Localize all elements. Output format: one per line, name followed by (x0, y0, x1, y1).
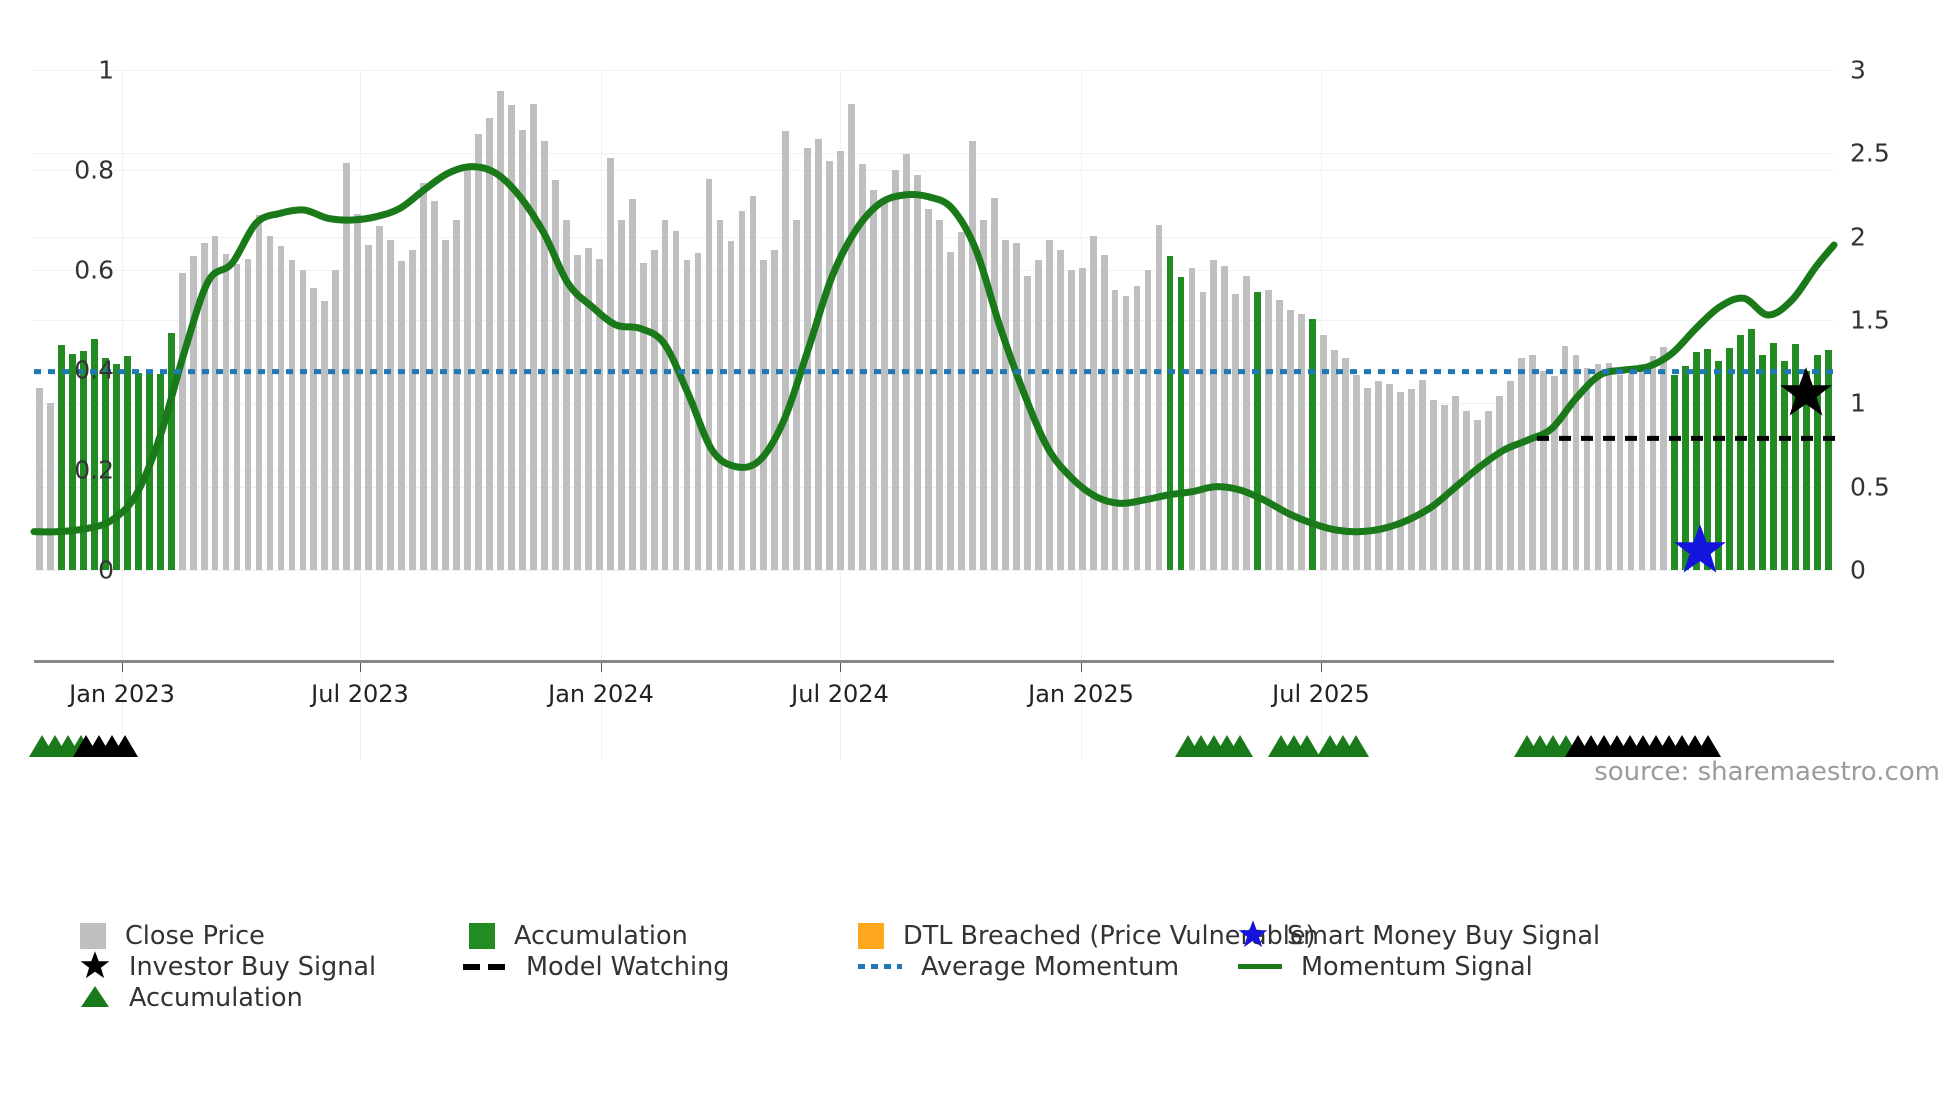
y-tick-right-3: 1.5 (1850, 306, 1890, 335)
smart-money-star-icon (1238, 919, 1268, 953)
smart-money-buy-signal-star (1673, 522, 1727, 580)
legend-item-4[interactable]: Investor Buy Signal (80, 951, 376, 982)
accumulation-triangle-green (1343, 735, 1369, 757)
accumulation-triangle-icon (80, 983, 110, 1013)
x-tick-mark-2 (601, 663, 602, 672)
legend-label-8: Accumulation (129, 983, 303, 1013)
y-tick-left-2: 0.4 (74, 356, 114, 385)
chart-root: 00.20.40.60.81 00.511.522.53 Jan 2023Jul… (0, 0, 1960, 1102)
legend-label-7: Momentum Signal (1301, 952, 1533, 982)
legend-item-3[interactable]: Smart Money Buy Signal (1238, 920, 1600, 951)
y-tick-right-6: 3 (1850, 56, 1866, 85)
y-tick-right-4: 2 (1850, 222, 1866, 251)
x-tick-label-5: Jul 2025 (1272, 680, 1370, 708)
y-tick-right-2: 1 (1850, 389, 1866, 418)
accumulation-swatch-icon (469, 923, 495, 949)
x-tick-label-1: Jul 2023 (311, 680, 409, 708)
plot-area (34, 70, 1834, 570)
dtl-breached-swatch-icon (858, 923, 884, 949)
gridline-right (34, 570, 1834, 571)
legend-row-1: Close Price Accumulation DTL Breached (P… (80, 920, 1940, 951)
legend-item-5[interactable]: Model Watching (463, 951, 730, 982)
legend-label-4: Investor Buy Signal (129, 952, 376, 982)
x-tick-mark-4 (1081, 663, 1082, 672)
legend-item-6[interactable]: Average Momentum (858, 951, 1179, 982)
x-tick-mark-1 (360, 663, 361, 672)
legend-label-6: Average Momentum (921, 952, 1179, 982)
legend-label-0: Close Price (125, 921, 265, 951)
y-tick-right-1: 0.5 (1850, 472, 1890, 501)
legend-item-7[interactable]: Momentum Signal (1238, 951, 1533, 982)
x-axis-line (34, 660, 1834, 663)
legend-label-1: Accumulation (514, 921, 688, 951)
x-tick-label-2: Jan 2024 (548, 680, 654, 708)
legend-row-2: Investor Buy Signal Model Watching Avera… (80, 951, 1940, 982)
legend-item-8[interactable]: Accumulation (80, 982, 303, 1013)
accumulation-triangle-black (112, 735, 138, 757)
x-tick-mark-3 (840, 663, 841, 672)
legend-row-3: Accumulation (80, 982, 1940, 1013)
legend-item-1[interactable]: Accumulation (469, 920, 688, 951)
legend-label-5: Model Watching (526, 952, 730, 982)
investor-star-icon (80, 950, 110, 984)
momentum-curve-layer (34, 70, 1834, 570)
accumulation-triangle-green (1227, 735, 1253, 757)
legend-item-0[interactable]: Close Price (80, 920, 265, 951)
y-tick-left-1: 0.2 (74, 456, 114, 485)
close-price-swatch-icon (80, 923, 106, 949)
x-tick-mark-5 (1321, 663, 1322, 672)
investor-buy-signal-star (1779, 365, 1833, 423)
chart-legend: Close Price Accumulation DTL Breached (P… (80, 920, 1940, 1013)
y-tick-left-5: 1 (98, 56, 114, 85)
model-watching-dash-icon (463, 964, 507, 970)
y-tick-right-5: 2.5 (1850, 139, 1890, 168)
legend-label-3: Smart Money Buy Signal (1287, 921, 1600, 951)
x-tick-label-0: Jan 2023 (69, 680, 175, 708)
y-tick-left-3: 0.6 (74, 256, 114, 285)
momentum-signal-line-icon (1238, 964, 1282, 969)
y-tick-right-0: 0 (1850, 556, 1866, 585)
source-watermark: source: sharemaestro.com (1594, 757, 1940, 787)
x-tick-label-3: Jul 2024 (791, 680, 889, 708)
x-tick-label-4: Jan 2025 (1028, 680, 1134, 708)
y-tick-left-4: 0.8 (74, 156, 114, 185)
momentum-signal-line (34, 167, 1834, 532)
average-momentum-dotted-icon (858, 964, 902, 969)
accumulation-triangle-black (1695, 735, 1721, 757)
x-tick-mark-0 (122, 663, 123, 672)
y-tick-left-0: 0 (98, 556, 114, 585)
